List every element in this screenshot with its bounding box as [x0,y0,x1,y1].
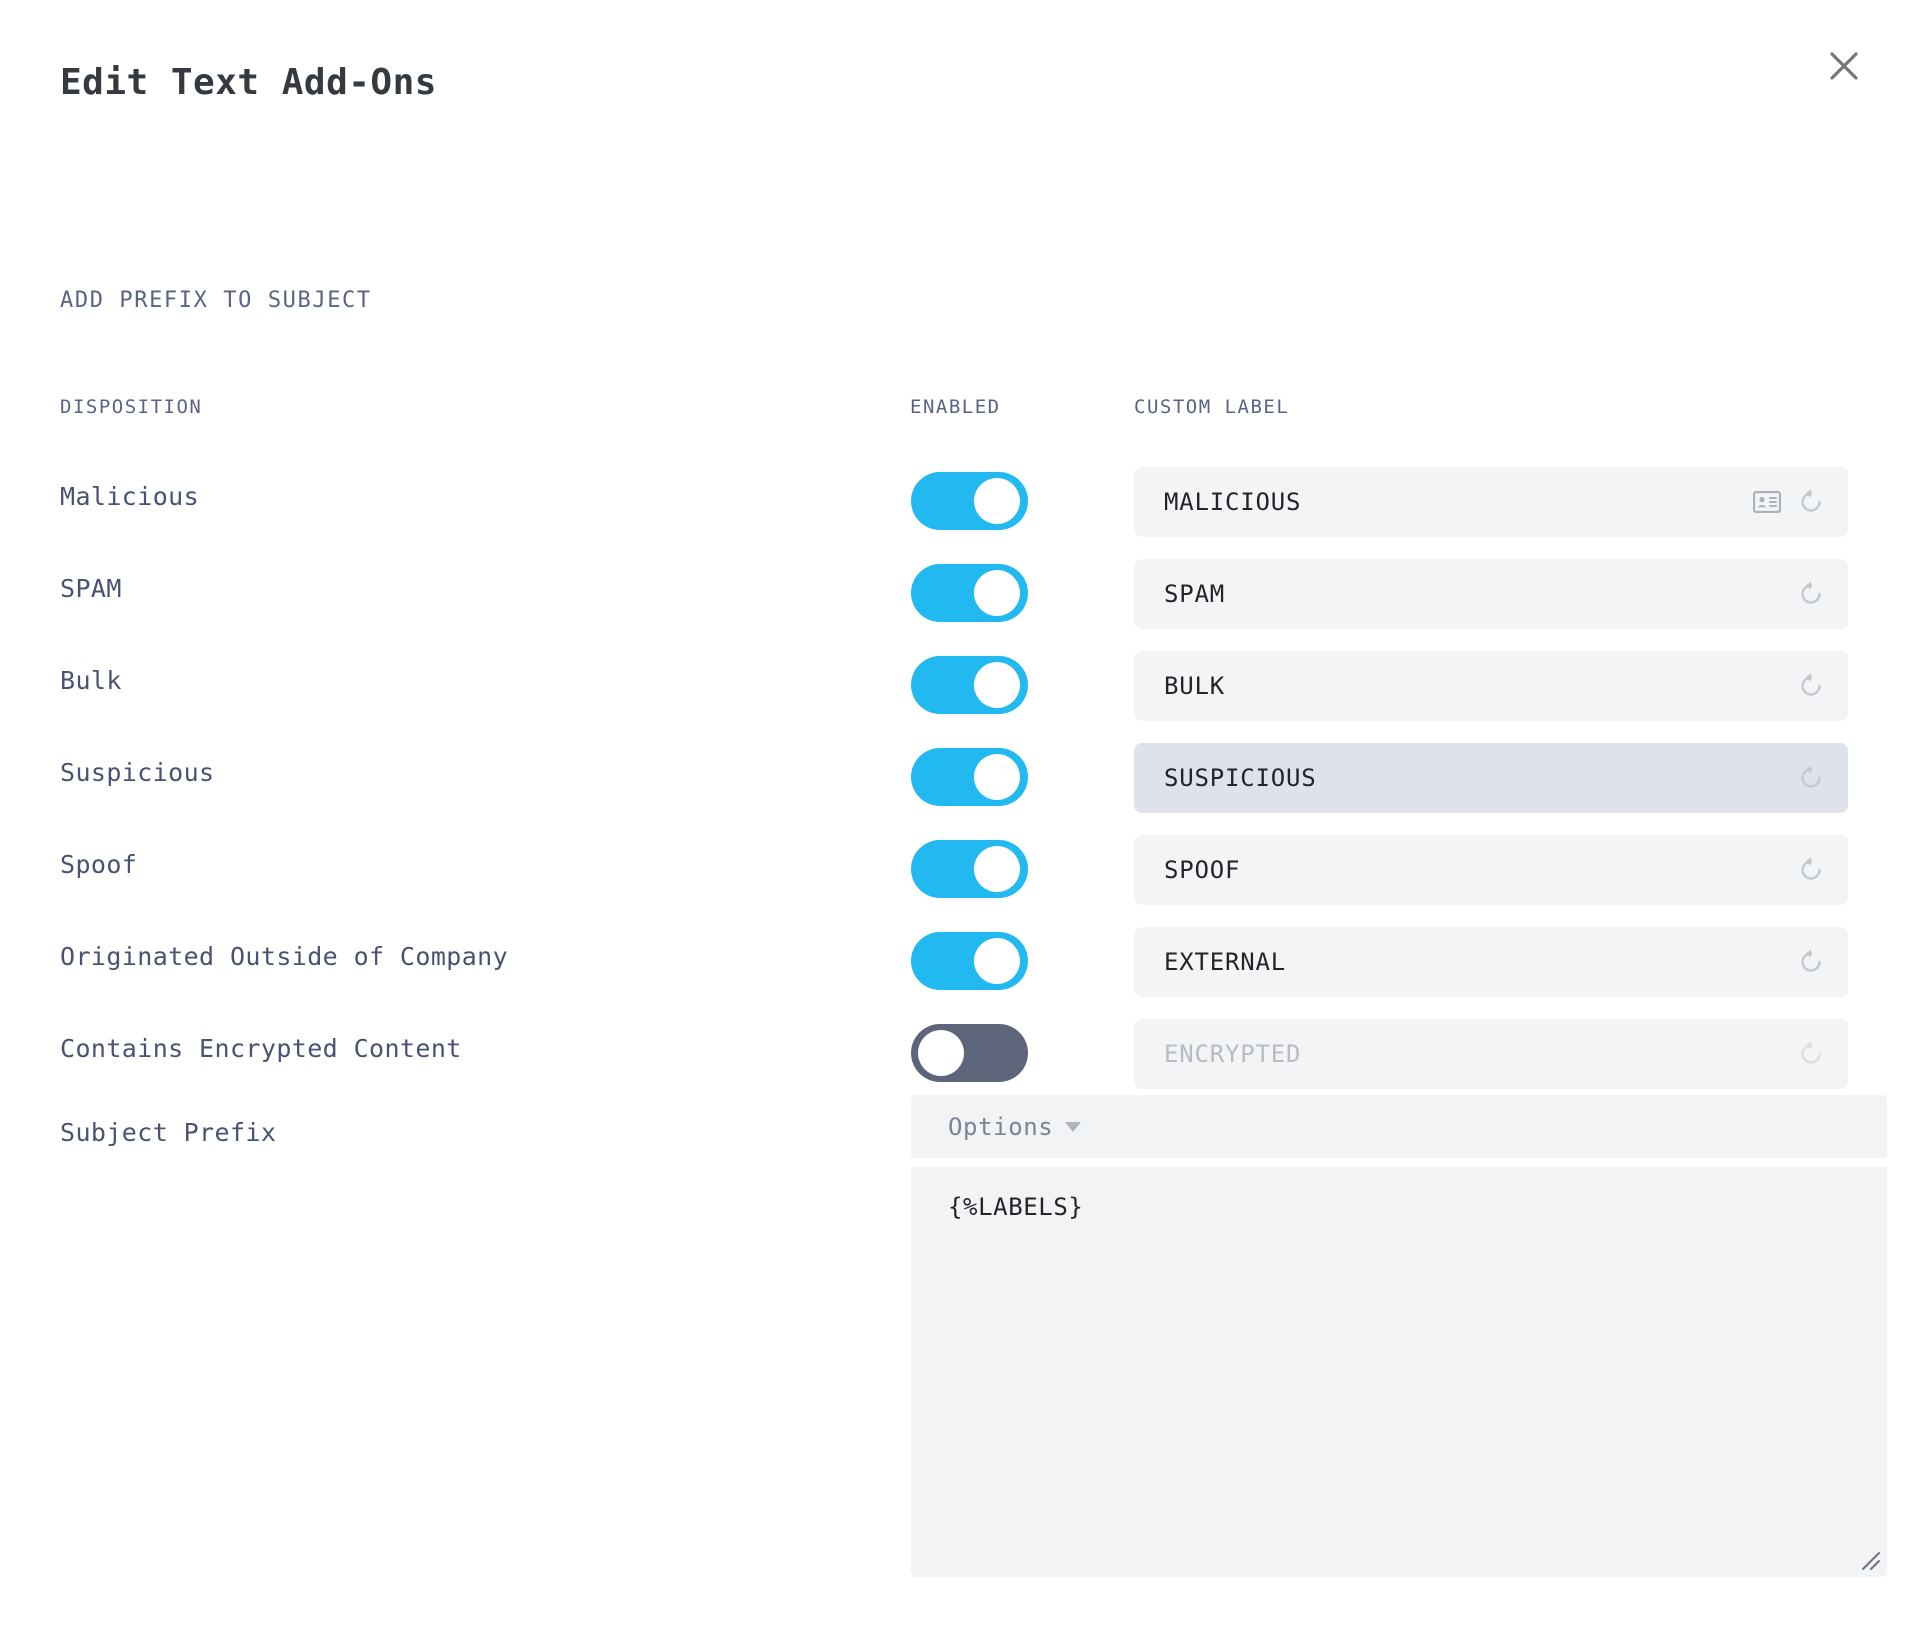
toggle-knob [974,662,1020,708]
toggle-knob [974,478,1020,524]
contact-card-icon[interactable] [1752,487,1782,517]
toggle-knob [974,846,1020,892]
table-row: Originated Outside of CompanyEXTERNAL [0,920,1908,1012]
custom-label-value: EXTERNAL [1164,948,1286,976]
custom-label-value: BULK [1164,672,1225,700]
column-header-custom-label: CUSTOM LABEL [1134,396,1289,418]
custom-label-input[interactable]: SPOOF [1134,835,1848,905]
table-row: BulkBULK [0,644,1908,736]
input-icon-group [1796,743,1826,813]
section-title: ADD PREFIX TO SUBJECT [60,288,372,313]
disposition-label: Bulk [60,666,122,695]
custom-label-input[interactable]: SUSPICIOUS [1134,743,1848,813]
enabled-toggle[interactable] [911,472,1028,530]
enabled-toggle[interactable] [911,656,1028,714]
enabled-toggle[interactable] [911,1024,1028,1082]
table-row: MaliciousMALICIOUS [0,460,1908,552]
disposition-label: Originated Outside of Company [60,942,508,971]
page-title: Edit Text Add-Ons [60,62,437,103]
custom-label-value: SUSPICIOUS [1164,764,1317,792]
toggle-knob [974,938,1020,984]
custom-label-value: SPOOF [1164,856,1240,884]
disposition-label: Suspicious [60,758,215,787]
editor-toolbar: Options [911,1095,1887,1158]
disposition-label: Contains Encrypted Content [60,1034,462,1063]
custom-label-value: MALICIOUS [1164,488,1301,516]
options-dropdown[interactable]: Options [948,1113,1081,1141]
enabled-toggle[interactable] [911,932,1028,990]
toggle-knob [974,754,1020,800]
disposition-table: MaliciousMALICIOUSSPAMSPAMBulkBULKSuspic… [0,460,1908,1104]
enabled-toggle[interactable] [911,564,1028,622]
custom-label-input[interactable]: SPAM [1134,559,1848,629]
custom-label-input: ENCRYPTED [1134,1019,1848,1089]
custom-label-input[interactable]: EXTERNAL [1134,927,1848,997]
disposition-label: Malicious [60,482,199,511]
chevron-down-icon [1065,1122,1081,1132]
reset-icon[interactable] [1796,947,1826,977]
reset-icon[interactable] [1796,487,1826,517]
disposition-label: SPAM [60,574,122,603]
dialog-header: Edit Text Add-Ons [0,0,1908,150]
column-header-enabled: ENABLED [910,396,1001,418]
table-row: Contains Encrypted ContentENCRYPTED [0,1012,1908,1104]
input-icon-group [1796,651,1826,721]
enabled-toggle[interactable] [911,748,1028,806]
custom-label-input[interactable]: MALICIOUS [1134,467,1848,537]
resize-handle-icon[interactable] [1855,1545,1881,1571]
subject-prefix-textarea[interactable]: {%LABELS} [911,1167,1887,1577]
disposition-label: Spoof [60,850,137,879]
close-icon [1827,49,1861,83]
column-header-disposition: DISPOSITION [60,396,202,418]
reset-icon[interactable] [1796,855,1826,885]
input-icon-group [1752,467,1826,537]
enabled-toggle[interactable] [911,840,1028,898]
reset-icon[interactable] [1796,579,1826,609]
toggle-knob [974,570,1020,616]
custom-label-value: SPAM [1164,580,1225,608]
input-icon-group [1796,927,1826,997]
input-icon-group [1796,559,1826,629]
input-icon-group [1796,835,1826,905]
custom-label-value: ENCRYPTED [1164,1040,1301,1068]
options-dropdown-label: Options [948,1113,1053,1141]
reset-icon[interactable] [1796,671,1826,701]
input-icon-group [1796,1019,1826,1089]
table-row: SPAMSPAM [0,552,1908,644]
subject-prefix-value: {%LABELS} [948,1193,1083,1221]
table-row: SuspiciousSUSPICIOUS [0,736,1908,828]
toggle-knob [918,1030,964,1076]
subject-prefix-label: Subject Prefix [60,1118,276,1147]
close-button[interactable] [1818,40,1870,92]
table-row: SpoofSPOOF [0,828,1908,920]
reset-icon[interactable] [1796,763,1826,793]
custom-label-input[interactable]: BULK [1134,651,1848,721]
reset-icon [1796,1039,1826,1069]
